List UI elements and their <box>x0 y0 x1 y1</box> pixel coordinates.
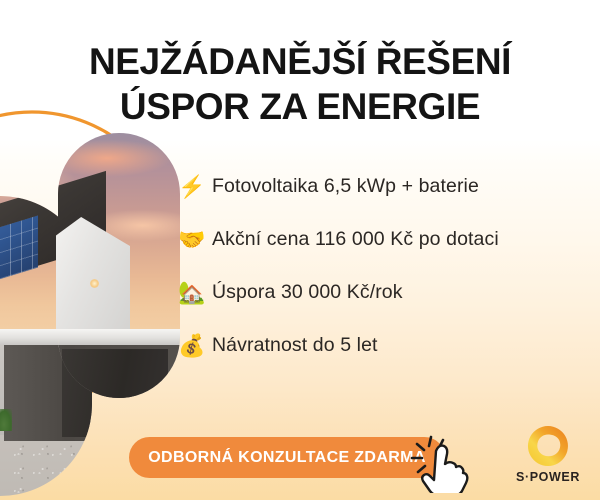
solar-energy-ad-banner: NEJŽÁDANĚJŠÍ ŘEŠENÍ ÚSPOR ZA ENERGIE ⚡ F… <box>0 0 600 500</box>
money-bag-icon: 💰 <box>178 335 212 357</box>
feature-label: Návratnost do 5 let <box>212 334 378 357</box>
page-title: NEJŽÁDANĚJŠÍ ŘEŠENÍ ÚSPOR ZA ENERGIE <box>0 39 600 129</box>
wall-lamp <box>90 279 99 288</box>
headline-line-2: ÚSPOR ZA ENERGIE <box>0 84 600 129</box>
garage-door <box>62 349 168 398</box>
brand-logo: S·POWER <box>509 424 587 490</box>
s-power-ring-logo <box>525 424 571 468</box>
feature-label: Úspora 30 000 Kč/rok <box>212 281 403 304</box>
free-consultation-button[interactable]: ODBORNÁ KONZULTACE ZDARMA <box>129 437 445 478</box>
list-item: 🤝 Akční cena 116 000 Kč po dotaci <box>178 213 578 266</box>
list-item: ⚡ Fotovoltaika 6,5 kWp + baterie <box>178 160 578 213</box>
logo-wordmark: S·POWER <box>509 470 587 484</box>
shrub <box>0 409 12 431</box>
house-photo-detail <box>58 133 180 398</box>
feature-label: Fotovoltaika 6,5 kWp + baterie <box>212 175 479 198</box>
house-garden-icon: 🏡 <box>178 282 212 304</box>
feature-label: Akční cena 116 000 Kč po dotaci <box>212 228 499 251</box>
list-item: 💰 Návratnost do 5 let <box>178 319 578 372</box>
list-item: 🏡 Úspora 30 000 Kč/rok <box>178 266 578 319</box>
balcony-slab <box>58 329 180 345</box>
lightning-bolt-icon: ⚡ <box>178 176 212 198</box>
handshake-icon: 🤝 <box>178 229 212 251</box>
feature-list: ⚡ Fotovoltaika 6,5 kWp + baterie 🤝 Akční… <box>178 160 578 372</box>
cta-area: ODBORNÁ KONZULTACE ZDARMA <box>129 437 445 478</box>
headline-line-1: NEJŽÁDANĚJŠÍ ŘEŠENÍ <box>0 39 600 84</box>
photo-pill-small <box>58 133 180 398</box>
